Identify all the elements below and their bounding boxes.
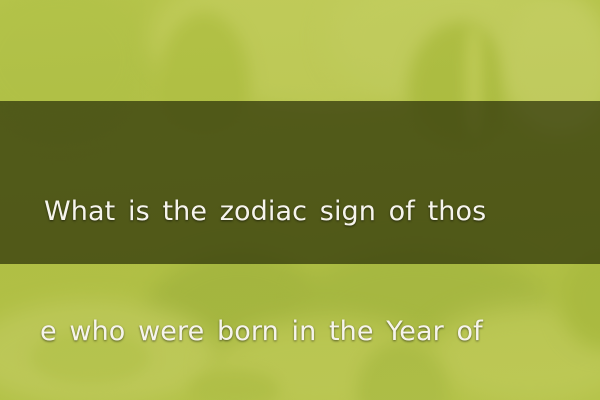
caption-line-2: e who were born in the Year of [0,312,600,352]
caption-text-block: What is the zodiac sign of thos e who we… [0,112,600,400]
image-card: What is the zodiac sign of thos e who we… [0,0,600,400]
caption-line-1: What is the zodiac sign of thos [0,192,600,232]
